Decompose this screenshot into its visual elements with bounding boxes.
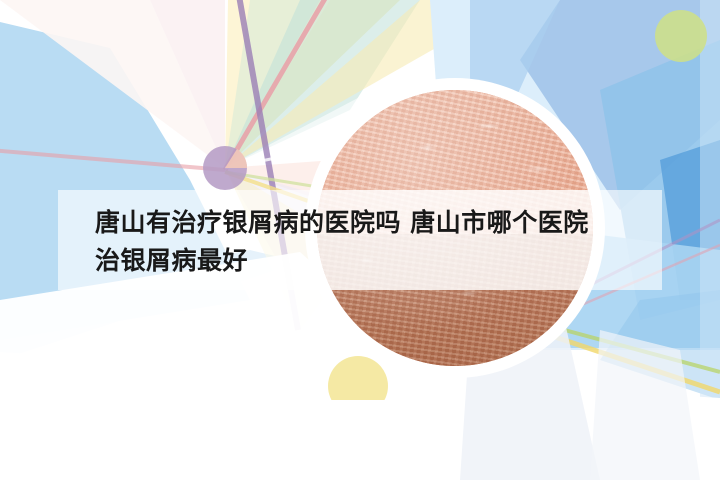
page-title: 唐山有治疗银屑病的医院吗 唐山市哪个医院 治银屑病最好 (95, 204, 655, 280)
cover-image-canvas: 唐山有治疗银屑病的医院吗 唐山市哪个医院 治银屑病最好 (0, 0, 720, 480)
lime-circle (655, 10, 707, 62)
shape-cover-yellow-bottom (300, 400, 430, 480)
